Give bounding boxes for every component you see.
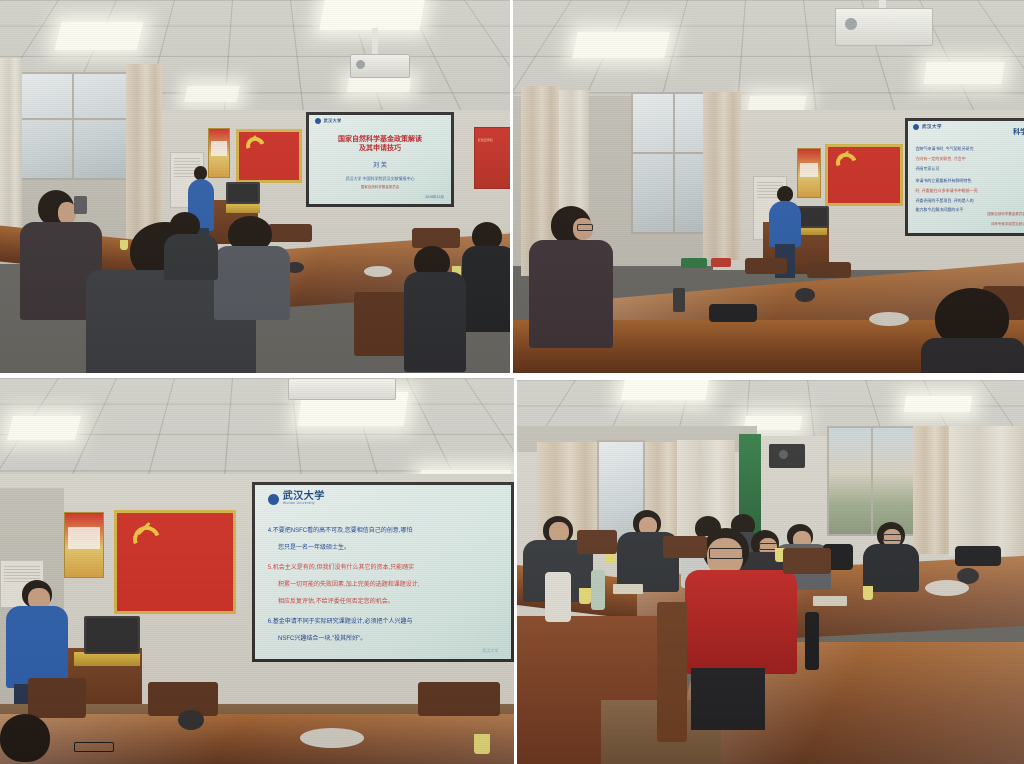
vacuum-flask: [673, 288, 685, 312]
podium-monitor: [226, 182, 260, 204]
audience-face: [549, 522, 569, 542]
paper-cup: [474, 734, 490, 754]
audience-member-right: [164, 212, 220, 272]
audience-member-far-right: [462, 222, 510, 332]
slide-logo: 武汉大学 Wuhan University: [268, 492, 325, 506]
slide-presenter: 刘 芙: [309, 160, 451, 169]
projector-lens-icon: [845, 18, 857, 30]
chair: [28, 678, 86, 718]
ceiling-light: [55, 22, 144, 50]
window-curtain: [913, 426, 953, 554]
window-curtain: [703, 92, 741, 260]
poster-band: [800, 163, 819, 176]
audience-member-foreground-right: [921, 288, 1024, 373]
presenter-body: [769, 201, 801, 247]
bag-on-table: [955, 546, 1001, 566]
presenter-head: [777, 186, 793, 202]
ceiling-light: [347, 78, 411, 92]
ceiling-light: [621, 380, 709, 400]
podium-nameplate: [74, 652, 140, 666]
slide-line-7: 能力和今后解决问题的水平: [915, 207, 963, 213]
ceiling-light: [923, 62, 1004, 84]
slide-title-line2: 及其申请技巧: [309, 143, 451, 153]
slide-bullet: 5.机会主义是有的,但我们没有什么其它的资本,只能踏实: [268, 562, 414, 571]
speaker-cone-icon: [779, 450, 788, 459]
party-flag: [825, 144, 903, 206]
photo-panel-bottom-right: [517, 380, 1024, 764]
audience-body: [921, 338, 1024, 373]
slide-bullet: 相应反复评估,不给评委任何否定您的机会。: [278, 596, 394, 605]
presenter-head: [194, 166, 207, 180]
projection-screen: 武汉大学 科学 会跨气申请书时, 今气契机另研究 方向有一定的关联性, 才会中 …: [908, 121, 1024, 233]
audience-body: [164, 234, 218, 280]
projection-screen: 武汉大学 国家自然科学基金政策解读 及其申请技巧 刘 芙 武汉大学 中国科学院武…: [309, 115, 451, 204]
chair: [577, 530, 617, 554]
ceiling-light: [319, 0, 424, 30]
slide-line-4: 申请书的立意要新并有鲜明特色: [915, 178, 971, 184]
ashtray: [925, 580, 969, 596]
projection-screen-frame: 武汉大学 Wuhan University 4.不要把NSFC看的高不可及,您要…: [252, 482, 514, 662]
slide-bullet: 4.不要把NSFC看的高不可及,您要相信自己的创意,哪怕: [268, 525, 413, 534]
window: [631, 92, 713, 234]
banner-text: 红色宣传栏: [478, 138, 508, 143]
slide-line-5: 时, 评委能在众多申请书中眼前一亮: [915, 188, 977, 194]
items-on-table: [681, 258, 707, 268]
notebook: [813, 596, 847, 606]
slide-org-cn: 武汉大学: [922, 124, 942, 130]
slide-logo: 武汉大学: [315, 118, 342, 124]
window: [16, 72, 128, 180]
ceiling-light: [184, 86, 239, 102]
party-flag: [114, 510, 236, 614]
ashtray: [364, 266, 392, 277]
chair: [663, 536, 707, 558]
ceiling-light: [572, 32, 670, 58]
paper-cup: [579, 588, 591, 604]
wuhan-university-seal-icon: [315, 118, 321, 124]
audience-body: [214, 246, 290, 320]
thermos-white: [545, 572, 571, 622]
presenter-body: [6, 606, 68, 688]
slide-bullet: 您只是一名一年级硕士生。: [278, 542, 350, 551]
slide-title-line1: 国家自然科学基金政策解读: [309, 134, 451, 144]
slide-foot-2: 评审专家评阅意见统计: [991, 222, 1024, 227]
eyeglasses-icon: [883, 534, 903, 541]
vacuum-flask: [805, 612, 819, 670]
audience-body: [863, 544, 919, 592]
slide-line-3: 评阅专家认可: [915, 166, 939, 172]
window-curtain: [0, 58, 22, 228]
slide-line-6: 评委评阅的不是项目, 评的是人的: [915, 198, 973, 204]
photo-collage: 红色宣传栏 武汉大学 国家自然科学基金政策解读 及其申请技巧 刘 芙 武汉大学 …: [0, 0, 1024, 764]
projection-screen-frame: 武汉大学 科学 会跨气申请书时, 今气契机另研究 方向有一定的关联性, 才会中 …: [905, 118, 1024, 236]
microphone: [178, 710, 204, 730]
eyeglasses-on-table: [74, 742, 114, 752]
window-mullion: [673, 94, 675, 232]
window-mullion: [871, 428, 873, 534]
slide-bullet: 6.基金申请不同于实际研究课题设计,必须把个人兴趣与: [268, 616, 413, 625]
chair: [657, 602, 687, 742]
chair: [807, 262, 851, 278]
slide-bullet: 积累一切可能的失败因素,加上完美的选题和课题设计,: [278, 579, 419, 588]
slide-footer: 武汉大学: [482, 648, 498, 654]
ashtray: [300, 728, 364, 748]
party-flag: [236, 129, 302, 183]
podium-nameplate: [226, 204, 260, 213]
hammer-sickle-icon: [245, 137, 261, 151]
audience-member-foreground: [0, 714, 110, 764]
chair: [783, 548, 831, 574]
audience-member-mid: [212, 216, 292, 316]
slide-bullet: NSFC兴趣结合一块,"投其所好"。: [278, 633, 366, 642]
slide-sub-note: 国家自然科学基金委员会: [309, 185, 451, 190]
window-mullion: [633, 152, 711, 154]
audience-body: [529, 240, 613, 348]
water-bottle: [591, 570, 605, 610]
ceiling-light: [748, 96, 806, 110]
window-curtain: [126, 64, 162, 240]
paper-cup: [863, 586, 873, 600]
audience-head: [0, 714, 50, 762]
poster-band: [211, 141, 228, 155]
audience-member-near-right: [404, 246, 466, 372]
wall-poster: [64, 512, 104, 578]
window-mullion: [18, 118, 126, 120]
bag-on-table: [709, 304, 757, 322]
poster-band: [68, 527, 100, 549]
red-jacket-body: [685, 570, 797, 674]
ceiling-light: [7, 416, 81, 440]
projector-icon: [288, 378, 396, 400]
notebook: [613, 584, 643, 594]
red-jacket-legs: [691, 668, 765, 730]
eyeglasses-icon: [577, 224, 593, 231]
chair: [418, 682, 500, 716]
slide-footer: 2019年12月: [425, 195, 444, 200]
ashtray: [869, 312, 909, 326]
podium-monitor: [84, 616, 140, 654]
projector-mount: [372, 28, 378, 56]
slide-foot-1: 国家自然科学基金委员会: [987, 212, 1024, 217]
microphone: [795, 288, 815, 302]
projector-lens-icon: [356, 60, 365, 69]
chair: [745, 258, 787, 274]
wall-banner-right: 红色宣传栏: [474, 127, 510, 189]
projection-screen: 武汉大学 Wuhan University 4.不要把NSFC看的高不可及,您要…: [255, 485, 511, 659]
ceiling-light: [904, 396, 972, 412]
slide-org-cn: 武汉大学: [324, 118, 342, 124]
photo-panel-top-right: 武汉大学 科学 会跨气申请书时, 今气契机另研究 方向有一定的关联性, 才会中 …: [513, 0, 1024, 373]
slide-affiliation: 武汉大学 中国科学院武汉文献情报中心: [309, 176, 451, 182]
slide-logo: 武汉大学: [913, 124, 942, 130]
slide-line-2: 方向有一定的关联性, 才会中: [915, 156, 965, 162]
projection-screen-frame: 武汉大学 国家自然科学基金政策解读 及其申请技巧 刘 芙 武汉大学 中国科学院武…: [306, 112, 454, 207]
audience-member: [863, 522, 919, 586]
phone-held-up: [74, 196, 87, 214]
window-mullion: [72, 74, 74, 178]
window: [827, 426, 915, 536]
eyeglasses-icon: [709, 548, 743, 559]
slide-heading: 科学: [1013, 127, 1024, 137]
chair: [412, 228, 460, 248]
photo-panel-bottom-left: 武汉大学 Wuhan University 4.不要把NSFC看的高不可及,您要…: [0, 378, 514, 764]
slide-org-en: Wuhan University: [283, 502, 325, 506]
wuhan-university-seal-icon: [913, 124, 919, 130]
slide-line-1: 会跨气申请书时, 今气契机另研究: [915, 146, 973, 152]
items-on-table: [711, 258, 731, 267]
photo-panel-top-left: 红色宣传栏 武汉大学 国家自然科学基金政策解读 及其申请技巧 刘 芙 武汉大学 …: [0, 0, 510, 373]
hammer-sickle-icon: [131, 525, 159, 552]
wuhan-university-seal-icon: [268, 494, 279, 505]
audience-body: [462, 246, 510, 332]
hammer-sickle-icon: [835, 153, 854, 170]
audience-body: [404, 272, 466, 372]
window-curtain: [949, 426, 1024, 556]
audience-member-left: [529, 206, 613, 346]
